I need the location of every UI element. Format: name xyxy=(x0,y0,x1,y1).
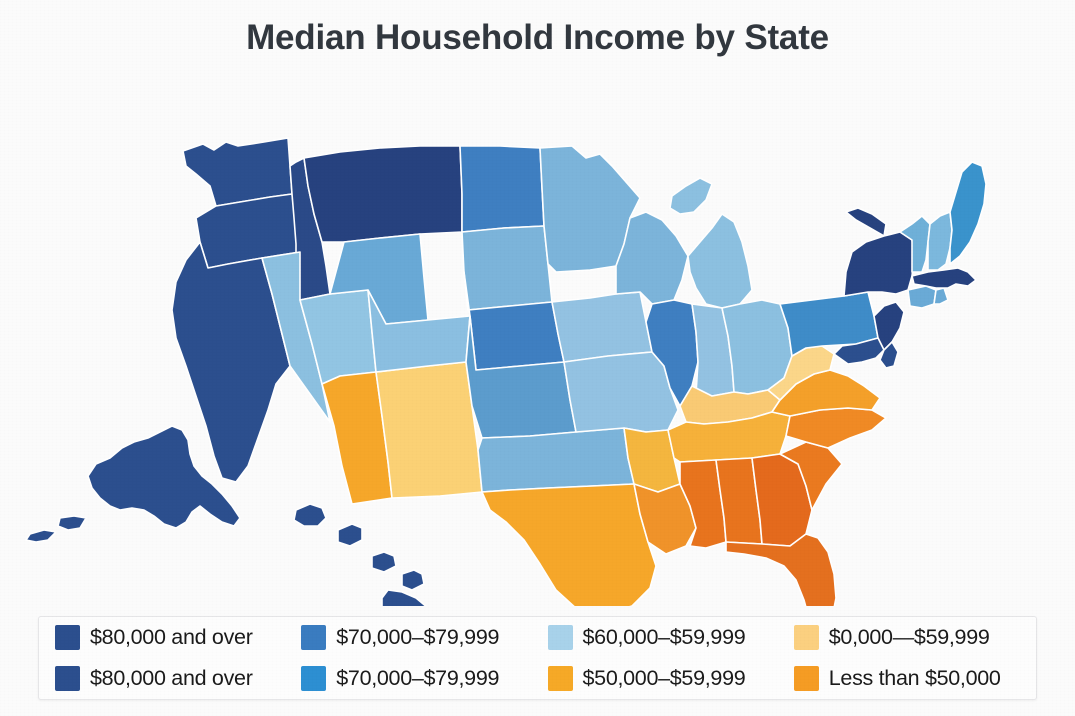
us-map-svg xyxy=(0,66,1075,606)
state-ME[interactable] xyxy=(950,162,986,264)
legend-item[interactable]: $50,000–$59,999 xyxy=(538,666,784,691)
state-TX[interactable] xyxy=(482,484,656,606)
state-NM[interactable] xyxy=(376,362,482,498)
state-AK[interactable] xyxy=(26,426,240,542)
state-NH[interactable] xyxy=(928,212,952,270)
legend-label: $80,000 and over xyxy=(90,666,253,691)
state-OK[interactable] xyxy=(478,428,634,492)
legend-swatch xyxy=(794,625,819,650)
legend-item[interactable]: $70,000–$79,999 xyxy=(291,666,537,691)
legend-swatch xyxy=(301,625,326,650)
legend-item[interactable]: $80,000 and over xyxy=(45,625,291,650)
state-CT[interactable] xyxy=(908,286,936,308)
state-HI[interactable] xyxy=(294,504,434,606)
state-RI[interactable] xyxy=(934,288,948,304)
legend-label: $70,000–$79,999 xyxy=(336,666,499,691)
state-MO[interactable] xyxy=(564,352,678,432)
legend-label: Less than $50,000 xyxy=(829,666,1001,691)
map-states-group xyxy=(26,138,986,606)
legend-item[interactable]: $80,000 and over xyxy=(45,666,291,691)
legend-swatch xyxy=(548,666,573,691)
legend-item[interactable]: Less than $50,000 xyxy=(784,666,1030,691)
legend-label: $0,000—$59,999 xyxy=(829,625,990,650)
legend-item[interactable]: $60,000–$59,999 xyxy=(538,625,784,650)
legend-swatch xyxy=(55,666,80,691)
legend-swatch xyxy=(55,625,80,650)
state-IA[interactable] xyxy=(552,292,652,362)
legend-swatch xyxy=(301,666,326,691)
page-title: Median Household Income by State xyxy=(0,18,1075,58)
legend-swatch xyxy=(548,625,573,650)
legend-swatch xyxy=(794,666,819,691)
legend-label: $70,000–$79,999 xyxy=(336,625,499,650)
legend-item[interactable]: $70,000–$79,999 xyxy=(291,625,537,650)
state-FL[interactable] xyxy=(726,534,836,606)
state-MI[interactable] xyxy=(670,178,752,308)
legend-label: $60,000–$59,999 xyxy=(583,625,746,650)
state-NY[interactable] xyxy=(844,208,914,296)
legend-label: $80,000 and over xyxy=(90,625,253,650)
state-ND[interactable] xyxy=(460,146,544,232)
state-MT[interactable] xyxy=(304,146,462,242)
state-SD[interactable] xyxy=(462,226,552,310)
choropleth-map xyxy=(0,66,1075,606)
legend-item[interactable]: $0,000—$59,999 xyxy=(784,625,1030,650)
map-legend: $80,000 and over $70,000–$79,999 $60,000… xyxy=(38,616,1037,700)
legend-label: $50,000–$59,999 xyxy=(583,666,746,691)
